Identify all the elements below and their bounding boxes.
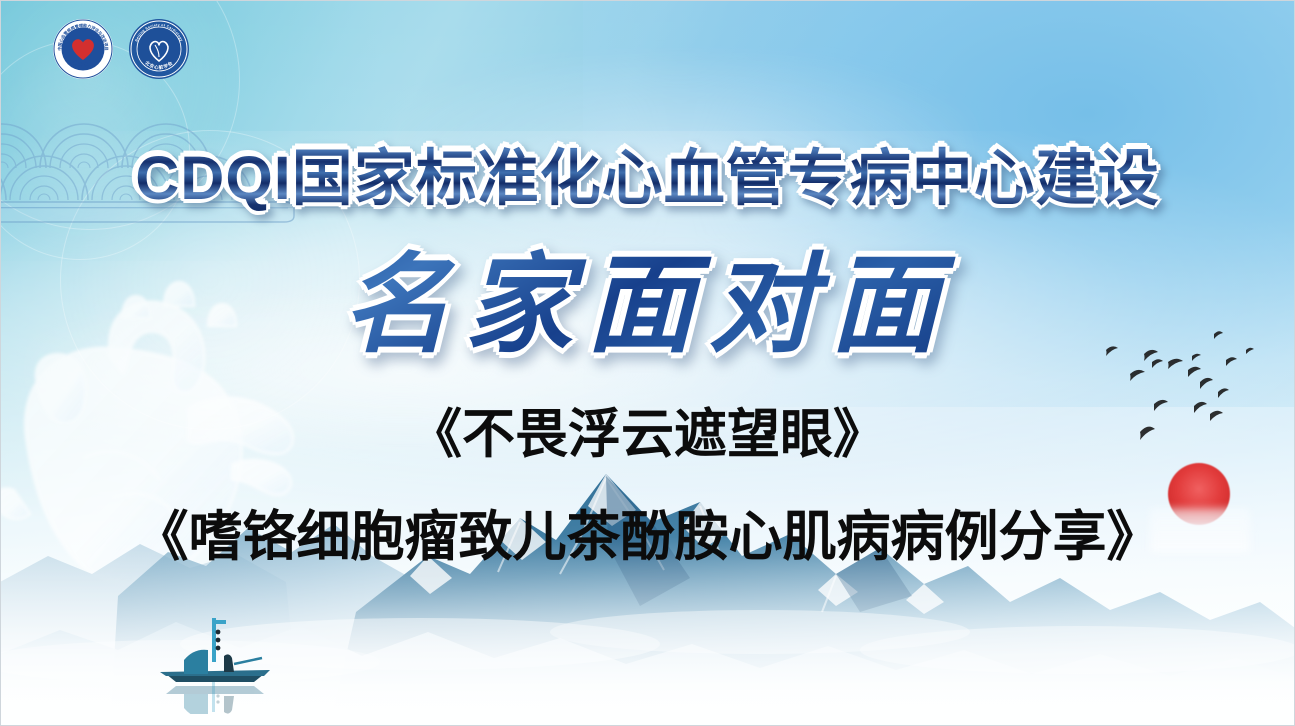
session-subtitle-secondary: 《嗜铬细胞瘤致儿茶酚胺心肌病病例分享》 (0, 492, 1295, 571)
calligraphy-title: 名家面对面 (0, 218, 1295, 374)
fisherman-boat-icon (150, 618, 280, 714)
session-subtitle-primary: 《不畏浮云遮望眼》 (0, 392, 1295, 468)
logo-group: 中国心血管疾病管理能力评估与改进项目 CDQI B (52, 18, 190, 80)
program-title: CDQI国家标准化心血管专病中心建设 (0, 128, 1295, 217)
beijing-society-of-cardiology-logo: Beijing Society of Cardiology 北京心脏学会 (128, 18, 190, 80)
cdqi-logo: 中国心血管疾病管理能力评估与改进项目 CDQI (52, 18, 114, 80)
title-slide: 中国心血管疾病管理能力评估与改进项目 CDQI B (0, 0, 1295, 726)
